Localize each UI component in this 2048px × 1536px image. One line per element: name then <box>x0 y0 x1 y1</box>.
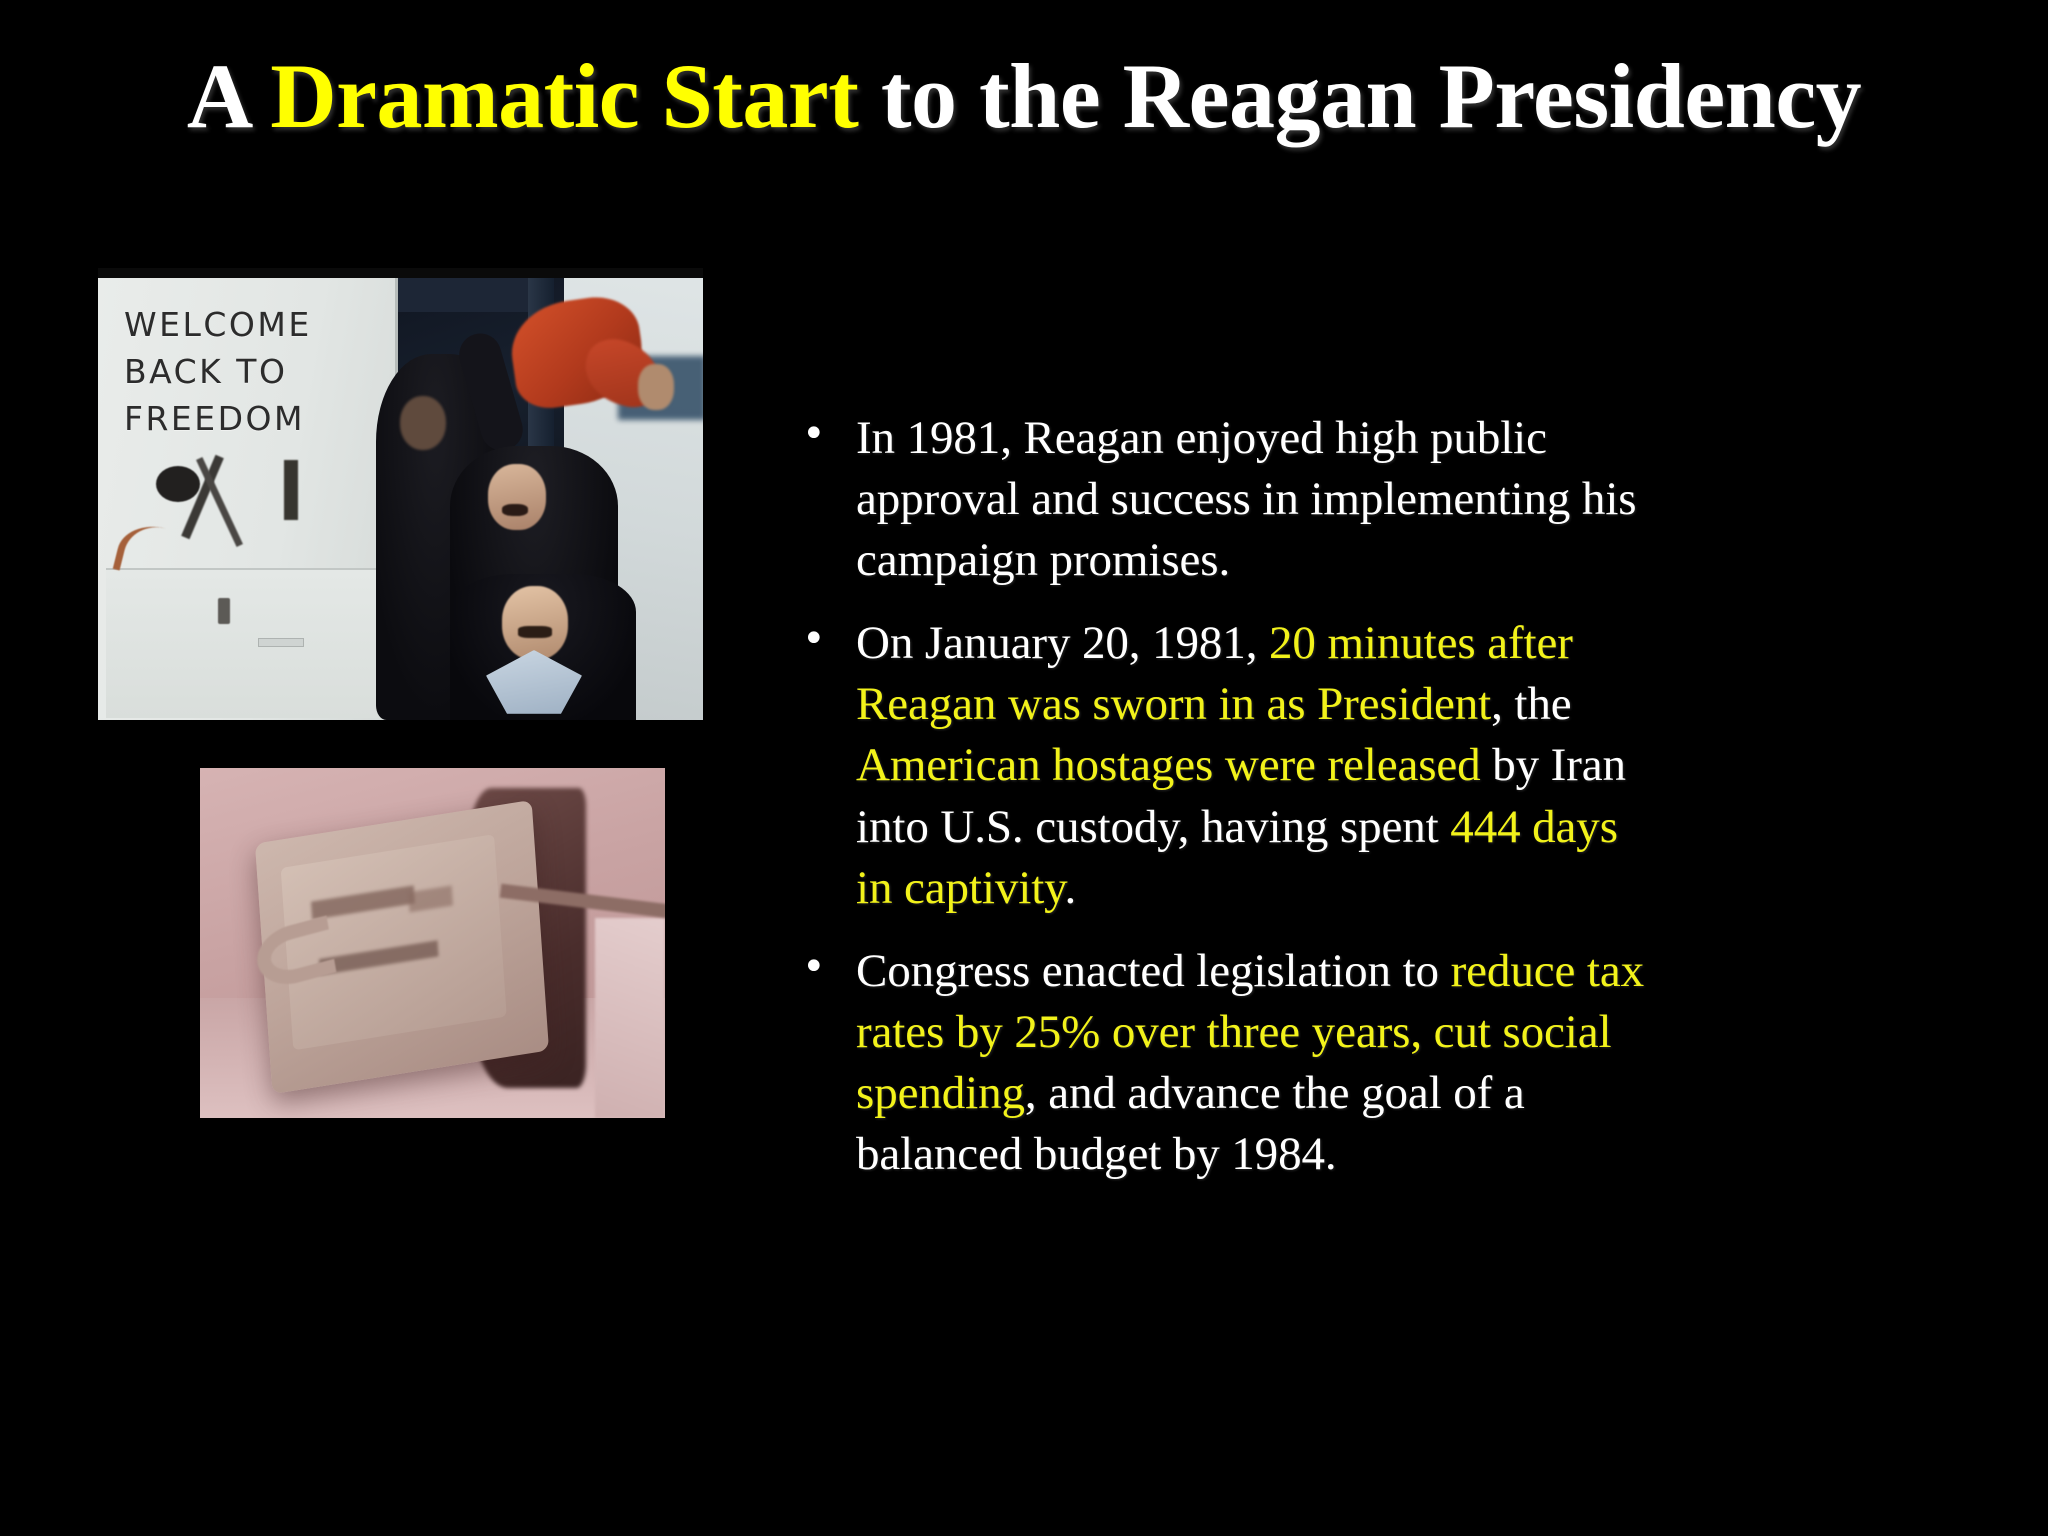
bullet-text-1: In 1981, Reagan enjoyed high public appr… <box>856 408 1646 591</box>
photo-door-handle <box>218 598 230 624</box>
bullet-marker: • <box>790 941 856 994</box>
list-item: • In 1981, Reagan enjoyed high public ap… <box>790 408 1990 591</box>
photo-person-front-head <box>502 586 568 660</box>
list-item: • On January 20, 1981, 20 minutes after … <box>790 613 1990 918</box>
bullet-2-seg-3: , the <box>1491 678 1571 730</box>
title-part-white-1: A <box>187 45 270 147</box>
bullet-2-seg-7: . <box>1065 862 1077 914</box>
bullet-list: • In 1981, Reagan enjoyed high public ap… <box>790 408 1990 1207</box>
photo-door-frame-top <box>398 272 548 312</box>
bullet-2-seg-4: American hostages were released <box>856 739 1481 791</box>
photo-door-lower-panel <box>106 568 386 718</box>
bullet-marker: • <box>790 408 856 461</box>
photo-person-rear-head <box>400 396 446 450</box>
image-luggage-case <box>200 768 665 1118</box>
photo-sign-mark-stroke-3 <box>284 460 298 520</box>
title-part-highlight: Dramatic Start <box>270 45 858 147</box>
photo-person-middle-mouth <box>502 504 528 516</box>
photo2-case <box>255 800 549 1094</box>
photo2-light-edge <box>595 918 665 1118</box>
slide-canvas: A Dramatic Start to the Reagan Presidenc… <box>0 0 2048 1536</box>
sign-line-1: WELCOME <box>124 302 374 349</box>
bullet-2-seg-1: On January 20, 1981, <box>856 617 1269 669</box>
photo-raised-hand <box>638 364 674 410</box>
list-item: • Congress enacted legislation to reduce… <box>790 941 1990 1185</box>
photo-top-edge-band <box>98 268 703 278</box>
title-part-white-2: to the Reagan Presidency <box>858 45 1861 147</box>
bullet-marker: • <box>790 613 856 666</box>
photo-welcome-sign: WELCOME BACK TO FREEDOM <box>124 302 374 443</box>
bullet-text-2: On January 20, 1981, 20 minutes after Re… <box>856 613 1646 918</box>
bullet-1-seg-1: In 1981, Reagan enjoyed high public appr… <box>856 412 1636 586</box>
bullet-3-seg-1: Congress enacted legislation to <box>856 945 1451 997</box>
image-hostage-release: WELCOME BACK TO FREEDOM <box>98 268 703 720</box>
bullet-text-3: Congress enacted legislation to reduce t… <box>856 941 1646 1185</box>
sign-line-2: BACK TO <box>124 349 374 396</box>
photo-person-front-moustache <box>518 626 552 638</box>
sign-line-3: FREEDOM <box>124 396 374 443</box>
photo-sign-mark-circle <box>156 466 200 502</box>
photo-person-middle-head <box>488 464 546 530</box>
photo-door-latch <box>258 638 304 647</box>
slide-title: A Dramatic Start to the Reagan Presidenc… <box>120 42 1928 151</box>
